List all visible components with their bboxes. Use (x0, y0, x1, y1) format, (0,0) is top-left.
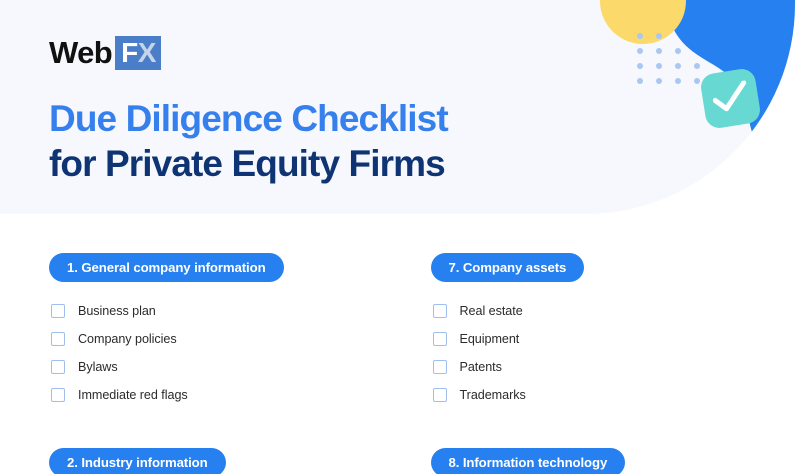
checkbox-icon[interactable] (51, 332, 65, 346)
list-item[interactable]: Immediate red flags (49, 381, 414, 409)
checkbox-icon[interactable] (51, 360, 65, 374)
checklist-page: Web F X Due Diligence Checklist for Priv… (0, 0, 795, 474)
list-item[interactable]: Business plan (49, 297, 414, 325)
checklist-columns: 1. General company information Business … (0, 214, 795, 474)
grid-dot (713, 78, 719, 84)
grid-dot (675, 63, 681, 69)
grid-dot (637, 78, 643, 84)
page-title-line-1: Due Diligence Checklist (49, 96, 448, 141)
section-badge-1[interactable]: 1. General company information (49, 253, 284, 282)
logo-web-text: Web (49, 36, 112, 70)
checklist-items-7: Real estate Equipment Patents Trademarks (431, 297, 795, 409)
blue-blob-shape (660, 0, 795, 144)
checkmark-tile-icon (699, 67, 762, 130)
list-item-label: Business plan (78, 304, 156, 318)
page-title: Due Diligence Checklist for Private Equi… (49, 96, 448, 186)
grid-dot (656, 33, 662, 39)
checklist-column-right: 7. Company assets Real estate Equipment … (414, 214, 795, 474)
webfx-logo: Web F X (49, 36, 161, 70)
list-item-label: Bylaws (78, 360, 118, 374)
grid-dot (656, 78, 662, 84)
list-item-label: Real estate (460, 304, 523, 318)
list-item[interactable]: Bylaws (49, 353, 414, 381)
checkbox-icon[interactable] (51, 304, 65, 318)
checklist-section-1: 1. General company information Business … (49, 214, 414, 409)
section-badge-8[interactable]: 8. Information technology (431, 448, 626, 474)
checklist-section-2: 2. Industry information (49, 409, 414, 474)
grid-dot (637, 63, 643, 69)
grid-dot (637, 48, 643, 54)
list-item[interactable]: Trademarks (431, 381, 795, 409)
checklist-section-7: 7. Company assets Real estate Equipment … (431, 214, 795, 409)
list-item-label: Equipment (460, 332, 520, 346)
list-item[interactable]: Real estate (431, 297, 795, 325)
grid-dot (656, 48, 662, 54)
list-item-label: Immediate red flags (78, 388, 188, 402)
list-item-label: Patents (460, 360, 502, 374)
page-title-line-2: for Private Equity Firms (49, 141, 448, 186)
grid-dot (637, 33, 643, 39)
page-header: Web F X Due Diligence Checklist for Priv… (0, 0, 795, 214)
checklist-items-1: Business plan Company policies Bylaws Im… (49, 297, 414, 409)
grid-dot (656, 63, 662, 69)
list-item[interactable]: Patents (431, 353, 795, 381)
checkbox-icon[interactable] (433, 304, 447, 318)
checkbox-icon[interactable] (433, 332, 447, 346)
checklist-section-8: 8. Information technology (431, 409, 795, 474)
section-badge-2[interactable]: 2. Industry information (49, 448, 226, 474)
list-item[interactable]: Company policies (49, 325, 414, 353)
section-badge-7[interactable]: 7. Company assets (431, 253, 585, 282)
logo-fx-box: F X (115, 36, 161, 70)
checkbox-icon[interactable] (51, 388, 65, 402)
grid-dot (675, 48, 681, 54)
grid-dot (694, 78, 700, 84)
dot-grid-icon (637, 33, 732, 93)
checklist-column-left: 1. General company information Business … (0, 214, 414, 474)
list-item[interactable]: Equipment (431, 325, 795, 353)
logo-f-text: F (121, 38, 138, 68)
grid-dot (675, 78, 681, 84)
grid-dot (694, 63, 700, 69)
list-item-label: Trademarks (460, 388, 526, 402)
checkbox-icon[interactable] (433, 388, 447, 402)
list-item-label: Company policies (78, 332, 177, 346)
logo-x-text: X (138, 38, 156, 68)
yellow-circle-icon (600, 0, 686, 44)
checkbox-icon[interactable] (433, 360, 447, 374)
